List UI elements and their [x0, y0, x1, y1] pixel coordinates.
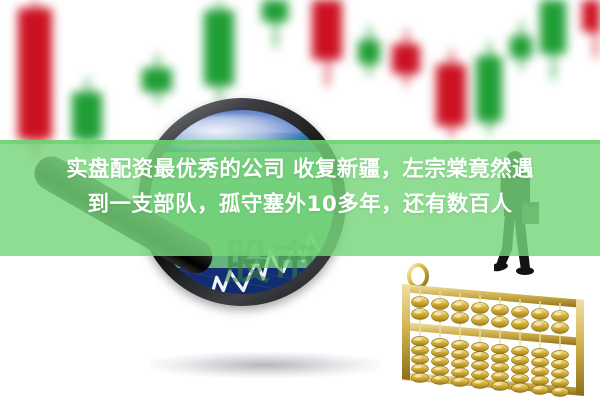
- abacus-bead-lower: [512, 356, 529, 365]
- abacus-bead-lower: [432, 338, 449, 347]
- candle-body: [204, 10, 234, 86]
- headline-line-2: 到一支部队，孤守塞外10多年，还有数百人: [0, 187, 600, 222]
- abacus-bead-lower: [452, 340, 469, 349]
- abacus-bead-lower: [452, 368, 469, 377]
- candle-body: [540, 0, 566, 54]
- abacus-bead-lower: [492, 363, 509, 372]
- abacus-bead-lower: [472, 361, 489, 370]
- abacus-bead-upper: [492, 317, 509, 328]
- abacus-ring: [409, 265, 427, 287]
- candle-body: [582, 0, 600, 32]
- abacus-bead-lower: [492, 381, 509, 390]
- abacus-bead-lower: [512, 365, 529, 374]
- abacus-bead-upper: [452, 313, 469, 324]
- abacus-bead-lower: [552, 387, 569, 396]
- candle-body: [262, 0, 288, 22]
- abacus-bead-lower: [432, 375, 449, 384]
- candle-body: [72, 92, 102, 140]
- abacus-bead-lower: [472, 370, 489, 379]
- candle-body: [510, 36, 532, 58]
- abacus-bead-upper: [552, 323, 569, 334]
- abacus-bead-lower: [532, 376, 549, 385]
- abacus-bead-lower: [452, 359, 469, 368]
- abacus-bead-upper: [532, 321, 549, 332]
- candle-body: [312, 0, 342, 60]
- abacus-bead-lower: [552, 369, 569, 378]
- abacus-illustration: [386, 262, 600, 400]
- abacus-bead-lower: [532, 367, 549, 376]
- abacus-bead-lower: [492, 372, 509, 381]
- abacus-bead-lower: [492, 344, 509, 353]
- abacus-bead-lower: [492, 354, 509, 363]
- abacus-bead-lower: [412, 336, 429, 345]
- candle-body: [358, 40, 380, 64]
- abacus-bead-upper: [432, 311, 449, 322]
- thumbnail-image: 股市: [0, 0, 600, 400]
- candle-body: [476, 56, 502, 122]
- abacus-bead-lower: [532, 348, 549, 357]
- abacus-bead-lower: [412, 355, 429, 364]
- abacus-bead-lower: [412, 373, 429, 382]
- abacus-bead-lower: [432, 357, 449, 366]
- headline-band-edge: [0, 140, 600, 144]
- abacus-bead-lower: [532, 358, 549, 367]
- abacus-bead-lower: [512, 374, 529, 383]
- abacus-bead-upper: [432, 299, 449, 310]
- abacus-bead-lower: [472, 352, 489, 361]
- abacus-bead-lower: [452, 377, 469, 386]
- candle-body: [392, 44, 420, 74]
- abacus-bead-lower: [472, 342, 489, 351]
- abacus-bead-lower: [512, 383, 529, 392]
- abacus-bead-lower: [552, 350, 569, 359]
- abacus-bead-upper: [412, 297, 429, 308]
- abacus-bead-upper: [512, 319, 529, 330]
- headline-line-1: 实盘配资最优秀的公司 收复新疆，左宗棠竟然遇: [0, 152, 600, 187]
- abacus-bead-upper: [412, 309, 429, 320]
- abacus-bead-lower: [412, 346, 429, 355]
- abacus-bead-upper: [492, 305, 509, 316]
- abacus-bead-lower: [412, 364, 429, 373]
- abacus-icon: [386, 262, 600, 400]
- magnifier-shadow: [150, 352, 380, 378]
- abacus-bead-lower: [432, 348, 449, 357]
- abacus-bead-upper: [512, 307, 529, 318]
- candle-body: [436, 64, 466, 126]
- abacus-bead-lower: [512, 346, 529, 355]
- abacus-bead-upper: [552, 311, 569, 322]
- abacus-bead-lower: [472, 379, 489, 388]
- abacus-bead-upper: [532, 309, 549, 320]
- abacus-bead-lower: [432, 366, 449, 375]
- abacus-bead-upper: [452, 301, 469, 312]
- abacus-bead-lower: [552, 360, 569, 369]
- candle-body: [18, 8, 52, 140]
- abacus-bead-lower: [452, 350, 469, 359]
- abacus-bead-upper: [472, 315, 489, 326]
- candle-body: [142, 68, 172, 92]
- abacus-bead-upper: [472, 303, 489, 314]
- abacus-bead-lower: [552, 378, 569, 387]
- abacus-bead-lower: [532, 385, 549, 394]
- page-title: 实盘配资最优秀的公司 收复新疆，左宗棠竟然遇 到一支部队，孤守塞外10多年，还有…: [0, 152, 600, 222]
